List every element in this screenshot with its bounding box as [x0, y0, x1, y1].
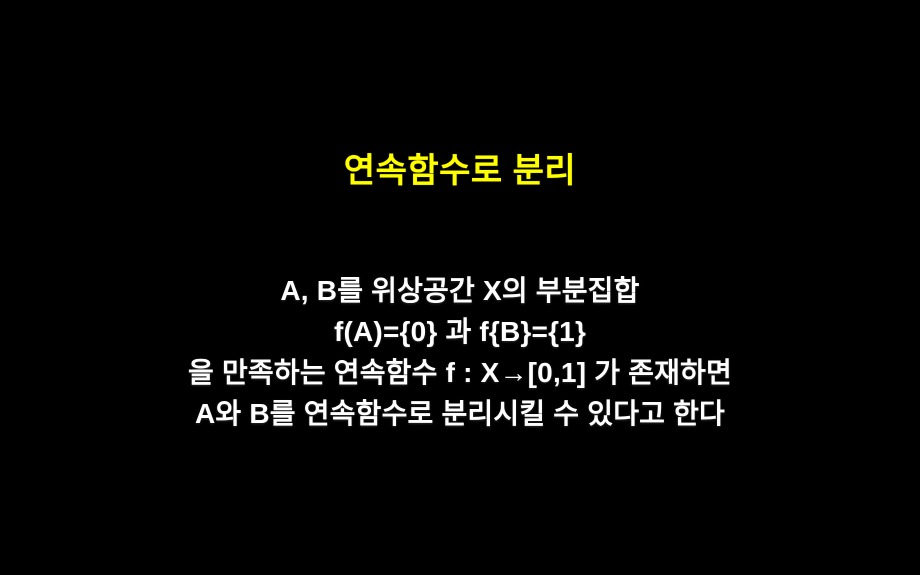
- presentation-slide: 연속함수로 분리 A, B를 위상공간 X의 부분집합 f(A)={0} 과 f…: [0, 0, 920, 575]
- slide-body: A, B를 위상공간 X의 부분집합 f(A)={0} 과 f{B}={1} 을…: [0, 270, 920, 434]
- body-line-3: 을 만족하는 연속함수 f : X→[0,1] 가 존재하면: [0, 352, 920, 393]
- slide-title: 연속함수로 분리: [0, 150, 920, 192]
- body-line-4: A와 B를 연속함수로 분리시킬 수 있다고 한다: [0, 393, 920, 434]
- body-line-2: f(A)={0} 과 f{B}={1}: [0, 311, 920, 352]
- body-line-1: A, B를 위상공간 X의 부분집합: [0, 270, 920, 311]
